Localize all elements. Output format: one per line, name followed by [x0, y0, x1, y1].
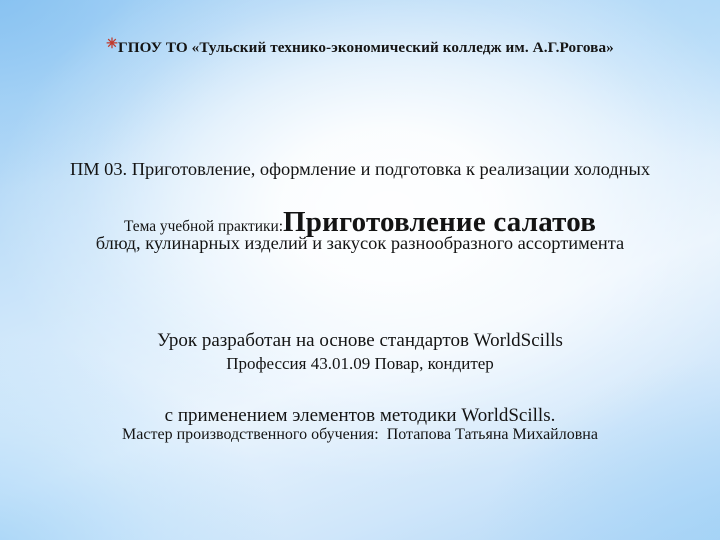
theme-value: Приготовление салатов: [283, 206, 596, 238]
organization-name: ГПОУ ТО «Тульский технико-экономический …: [118, 39, 614, 56]
standards-note: Урок разработан на основе стандартов Wor…: [0, 277, 720, 479]
standards-note-line-2: с применением элементов методики WorldSc…: [0, 403, 720, 428]
presentation-slide: ✳ГПОУ ТО «Тульский технико-экономический…: [0, 0, 720, 540]
asterisk-icon: ✳: [106, 37, 118, 52]
profession-line: Профессия 43.01.09 Повар, кондитер: [0, 354, 720, 374]
theme-line: Тема учебной практики:Приготовление сала…: [0, 206, 720, 240]
module-title-line-1: ПМ 03. Приготовление, оформление и подго…: [28, 157, 692, 182]
master-line: Мастер производственного обучения: Потап…: [0, 426, 720, 445]
theme-label: Тема учебной практики:: [124, 218, 283, 235]
organization-line: ✳ГПОУ ТО «Тульский технико-экономический…: [0, 37, 720, 57]
standards-note-line-1: Урок разработан на основе стандартов Wor…: [0, 328, 720, 353]
slide-content: ✳ГПОУ ТО «Тульский технико-экономический…: [0, 0, 720, 540]
